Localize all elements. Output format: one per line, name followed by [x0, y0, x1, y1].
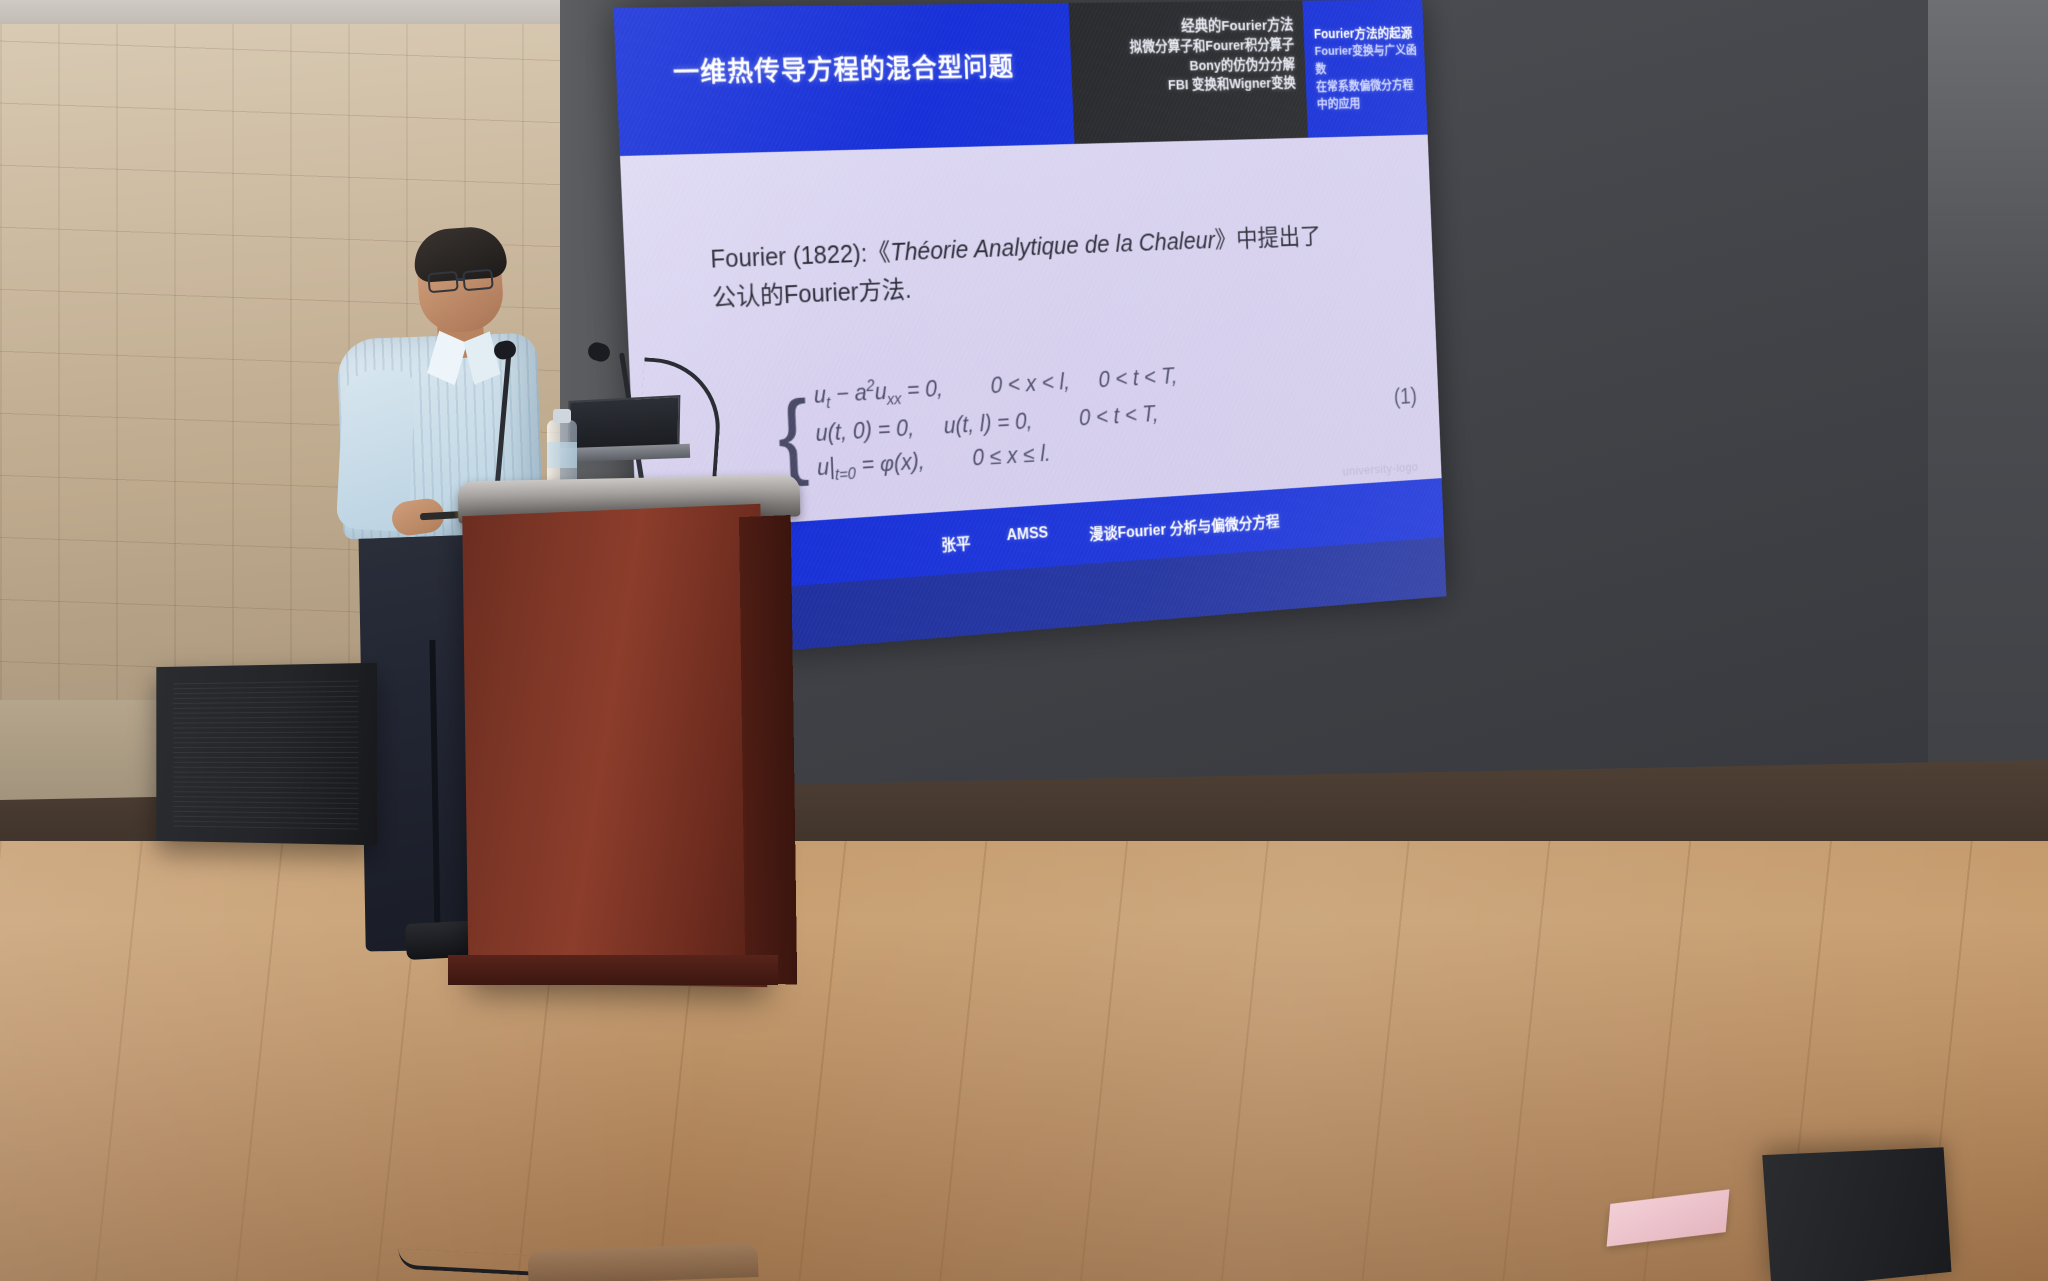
equation-system: { ut − a2uxx = 0, 0 < x < l, 0 < t < T, …	[775, 347, 1416, 491]
eq1-minus: −	[830, 380, 856, 407]
left-brace-icon: {	[776, 394, 810, 476]
paragraph-part-a: Fourier (1822):《	[710, 239, 891, 273]
slide-header: 一维热传导方程的混合型问题 经典的Fourier方法 拟微分算子和Fourer积…	[613, 0, 1427, 156]
footer-talk-title: 漫谈Fourier 分析与偏微分方程	[1075, 497, 1444, 546]
eq3-u: u|	[817, 454, 836, 480]
eq1-cond-2: 0 < t < T,	[1098, 363, 1178, 392]
eq1-equals: = 0,	[900, 376, 943, 403]
equation-lines: ut − a2uxx = 0, 0 < x < l, 0 < t < T, u(…	[813, 360, 1181, 490]
footer-author: 张平	[941, 530, 971, 555]
eq1-u2: u	[874, 379, 887, 405]
podium-base	[448, 955, 778, 985]
podium-front-panel	[462, 504, 767, 987]
slide-title: 一维热传导方程的混合型问题	[613, 3, 1074, 156]
slide-paragraph: Fourier (1822):《Théorie Analytique de la…	[710, 217, 1385, 318]
confidence-monitor	[1762, 1147, 1951, 1281]
section-subtitle-2: 在常系数偏微分方程中的应用	[1316, 76, 1422, 113]
glasses-left-lens-icon	[427, 271, 459, 294]
eq1-u: u	[813, 382, 826, 408]
eq1-u2-sub: xx	[887, 391, 902, 408]
eq3-cond: 0 ≤ x ≤ l.	[972, 441, 1051, 471]
floor-reflection	[0, 841, 2048, 1281]
loudspeaker-grille	[173, 676, 358, 829]
equation-number: (1)	[1393, 384, 1417, 410]
water-bottle-label	[547, 442, 577, 468]
university-logo: university-logo	[1342, 460, 1418, 479]
section-subtitle-1: Fourier变换与广义函数	[1314, 42, 1420, 78]
eq3-rhs: = φ(x),	[855, 449, 925, 478]
glasses-right-lens-icon	[462, 269, 494, 292]
footer-affiliation: AMSS	[1006, 524, 1049, 550]
eq3-u-sub: t=0	[835, 466, 856, 484]
eq2-mid: u(t, l) = 0,	[943, 408, 1033, 438]
slide-outline-list: 经典的Fourier方法 拟微分算子和Fourer积分算子 Bony的仿伪分分解…	[1069, 1, 1307, 98]
podium-side-panel	[739, 515, 797, 984]
section-title: Fourier方法的起源	[1314, 23, 1419, 43]
outline-item-2: FBI 变换和Wigner变换	[1072, 74, 1296, 98]
lecture-hall-photo: 一维热传导方程的混合型问题 经典的Fourier方法 拟微分算子和Fourer积…	[0, 0, 2048, 1281]
paragraph-part-b: 》中提出了	[1214, 223, 1321, 253]
book-title-italic: Théorie Analytique de la Chaleur	[890, 227, 1215, 266]
slide-section-panel: Fourier方法的起源 Fourier变换与广义函数 在常系数偏微分方程中的应…	[1302, 0, 1427, 138]
water-bottle-cap	[553, 409, 571, 423]
eq2-cond: 0 < t < T,	[1079, 401, 1159, 430]
glasses-bridge-icon	[457, 278, 465, 281]
eq2-lhs: u(t, 0) = 0,	[815, 415, 914, 446]
eq1-cond-1: 0 < x < l,	[990, 369, 1070, 398]
